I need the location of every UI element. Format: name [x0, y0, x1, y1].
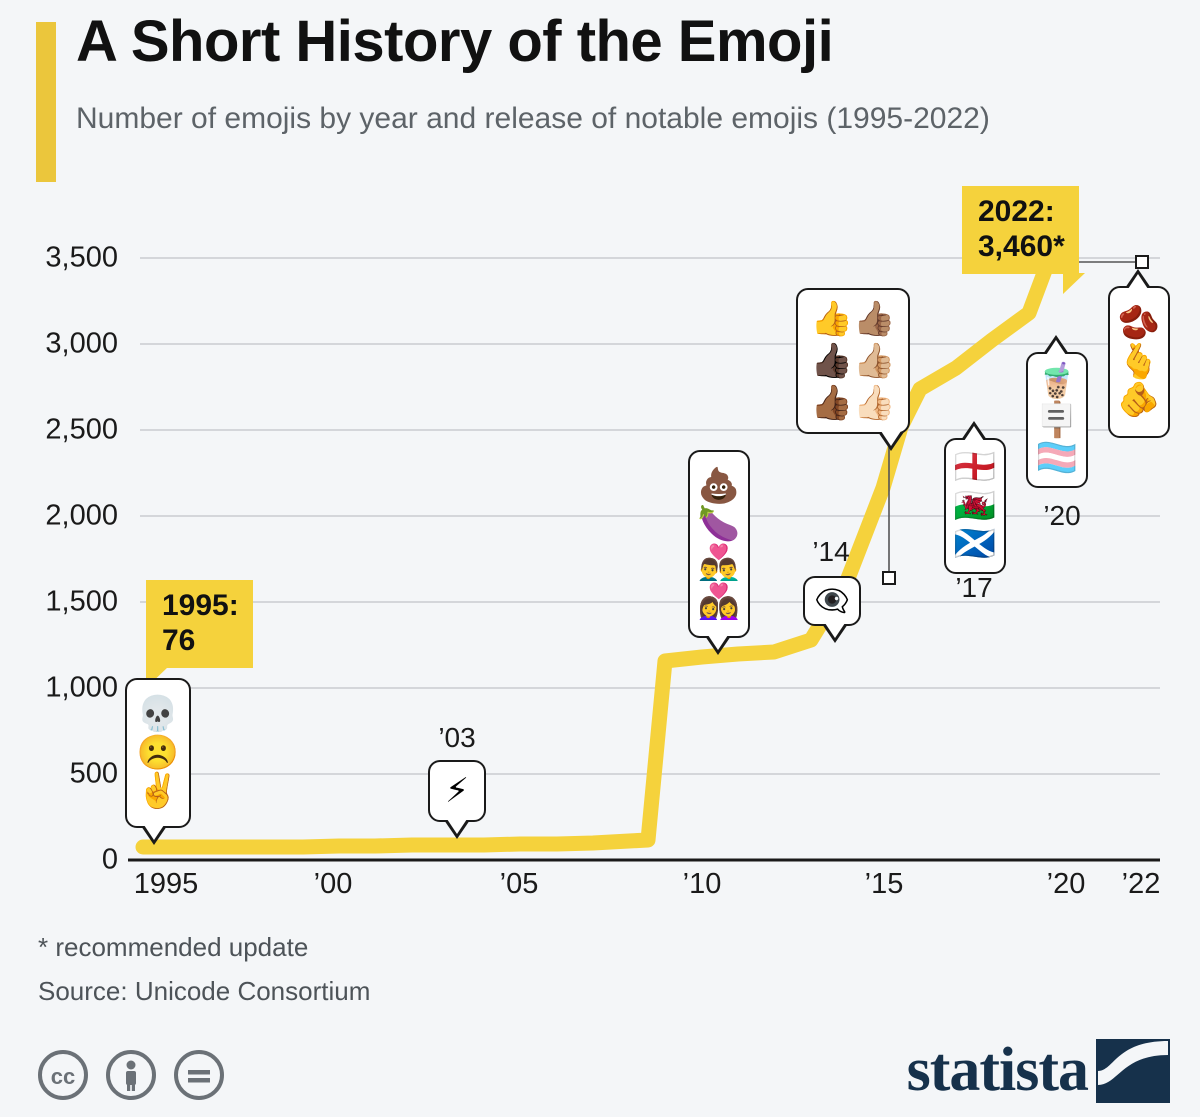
bubble-tail-inner: [1128, 274, 1148, 289]
y-tick-2000: 2,000: [0, 500, 118, 533]
statista-logo: statista: [907, 1035, 1170, 1106]
beans-icon: 🫘: [1118, 304, 1160, 343]
x-tick-2005: ’05: [500, 868, 539, 901]
frowning-face-icon: ☹️: [137, 734, 179, 773]
value-callout-2022: 2022: 3,460*: [962, 186, 1079, 274]
transgender-flag-icon: 🏳️‍⚧️: [1036, 439, 1078, 478]
y-tick-1500: 1,500: [0, 586, 118, 619]
emoji-box-2014: 👁️‍🗨️: [803, 576, 861, 626]
callout-1995-year: 1995:: [162, 588, 239, 623]
year-tag-2020: ’20: [1043, 500, 1080, 532]
high-voltage-icon: ⚡: [445, 772, 469, 811]
couple-with-heart-woman-woman-icon: 👩‍❤️‍👩: [698, 583, 740, 622]
y-tick-3500: 3,500: [0, 242, 118, 275]
emoji-row: 👍🏾 👍🏻: [811, 384, 896, 423]
emoji-box-2010: 💩 🍆 👨‍❤️‍👨 👩‍❤️‍👩: [688, 450, 750, 638]
emoji-count-line: [143, 265, 1047, 847]
svg-text:cc: cc: [51, 1064, 75, 1089]
pregnant-man-icon: 🫵: [1118, 381, 1160, 420]
callout-tail: [1063, 273, 1085, 294]
bubble-tail-inner: [964, 426, 984, 441]
source-note: Source: Unicode Consortium: [38, 976, 370, 1007]
bubble-tail-inner: [825, 623, 845, 638]
pile-of-poo-icon: 💩: [698, 467, 740, 506]
y-tick-3000: 3,000: [0, 328, 118, 361]
statista-wordmark: statista: [907, 1035, 1088, 1106]
license-icons: cc: [36, 1048, 226, 1102]
callout-2022-year: 2022:: [978, 194, 1065, 229]
gridlines: [140, 258, 1160, 774]
emoji-box-2003: ⚡: [428, 760, 486, 822]
eggplant-icon: 🍆: [698, 505, 740, 544]
bubble-tail-inner: [1046, 340, 1066, 355]
x-tick-2022: ’22: [1122, 868, 1161, 901]
crossed-fingers-icon: 🫰: [1118, 343, 1160, 382]
emoji-row: 👍🏿 👍🏼: [811, 342, 896, 381]
callout-1995-value: 76: [162, 623, 239, 658]
emoji-box-2022: 🫘 🫰 🫵: [1108, 286, 1170, 438]
emoji-box-1995: 💀 ☹️ ✌️: [125, 678, 191, 828]
y-tick-1000: 1,000: [0, 672, 118, 705]
x-tick-1995: 1995: [134, 868, 199, 901]
infographic-page: A Short History of the Emoji Number of e…: [0, 0, 1200, 1117]
thumbs-up-medium-light-icon: 👍🏼: [853, 342, 895, 381]
accent-bar: [36, 22, 56, 182]
bubble-tail-inner: [881, 431, 901, 446]
value-callout-1995: 1995: 76: [146, 580, 253, 668]
flag-england-icon: 🏴󠁧󠁢󠁥󠁮󠁧󠁿: [954, 448, 996, 487]
x-tick-2020: ’20: [1047, 868, 1086, 901]
emoji-row: 👍 👍🏽: [811, 300, 896, 339]
page-title: A Short History of the Emoji: [76, 8, 833, 75]
victory-hand-icon: ✌️: [137, 772, 179, 811]
header: A Short History of the Emoji Number of e…: [0, 0, 1200, 200]
x-tick-2010: ’10: [683, 868, 722, 901]
skull-icon: 💀: [137, 695, 179, 734]
bubble-tea-icon: 🧋: [1036, 362, 1078, 401]
year-tag-2017: ’17: [955, 572, 992, 604]
couple-with-heart-man-man-icon: 👨‍❤️‍👨: [698, 544, 740, 583]
thumbs-up-medium-icon: 👍🏽: [853, 300, 895, 339]
emoji-box-2015: 👍 👍🏽 👍🏿 👍🏼 👍🏾 👍🏻: [796, 288, 910, 434]
emoji-box-2017: 🏴󠁧󠁢󠁥󠁮󠁧󠁿 🏴󠁧󠁢󠁷󠁬󠁳󠁿 🏴󠁧󠁢󠁳󠁣󠁴󠁿: [944, 438, 1006, 574]
bubble-tail-inner: [447, 819, 467, 834]
y-tick-2500: 2,500: [0, 414, 118, 447]
statista-mark-icon: [1096, 1039, 1170, 1103]
x-tick-2015: ’15: [865, 868, 904, 901]
thumbs-up-dark-icon: 👍🏿: [811, 342, 853, 381]
page-subtitle: Number of emojis by year and release of …: [76, 100, 1136, 138]
y-tick-0: 0: [0, 844, 118, 877]
emoji-box-2020: 🧋 🪧 🏳️‍⚧️: [1026, 352, 1088, 488]
y-tick-500: 500: [0, 758, 118, 791]
thumbs-up-medium-dark-icon: 👍🏾: [811, 384, 853, 423]
eye-in-speech-bubble-icon: 👁️‍🗨️: [815, 585, 850, 617]
footnote: * recommended update: [38, 932, 308, 963]
thumbs-up-default-icon: 👍: [811, 300, 853, 339]
by-person-icon: [104, 1048, 158, 1102]
bubble-tail-inner: [144, 825, 164, 840]
marker-2015: [883, 432, 895, 584]
nd-equals-icon: [172, 1048, 226, 1102]
year-tag-2014: ’14: [812, 536, 849, 568]
flag-wales-icon: 🏴󠁧󠁢󠁷󠁬󠁳󠁿: [954, 487, 996, 526]
x-tick-2000: ’00: [314, 868, 353, 901]
thumbs-up-light-icon: 👍🏻: [853, 384, 895, 423]
flag-scotland-icon: 🏴󠁧󠁢󠁳󠁣󠁴󠁿: [954, 525, 996, 564]
callout-2022-value: 3,460*: [978, 229, 1065, 264]
bubble-tail-inner: [708, 635, 728, 650]
cc-icon: cc: [36, 1048, 90, 1102]
placard-icon: 🪧: [1036, 401, 1078, 440]
year-tag-2003: ’03: [438, 722, 475, 754]
